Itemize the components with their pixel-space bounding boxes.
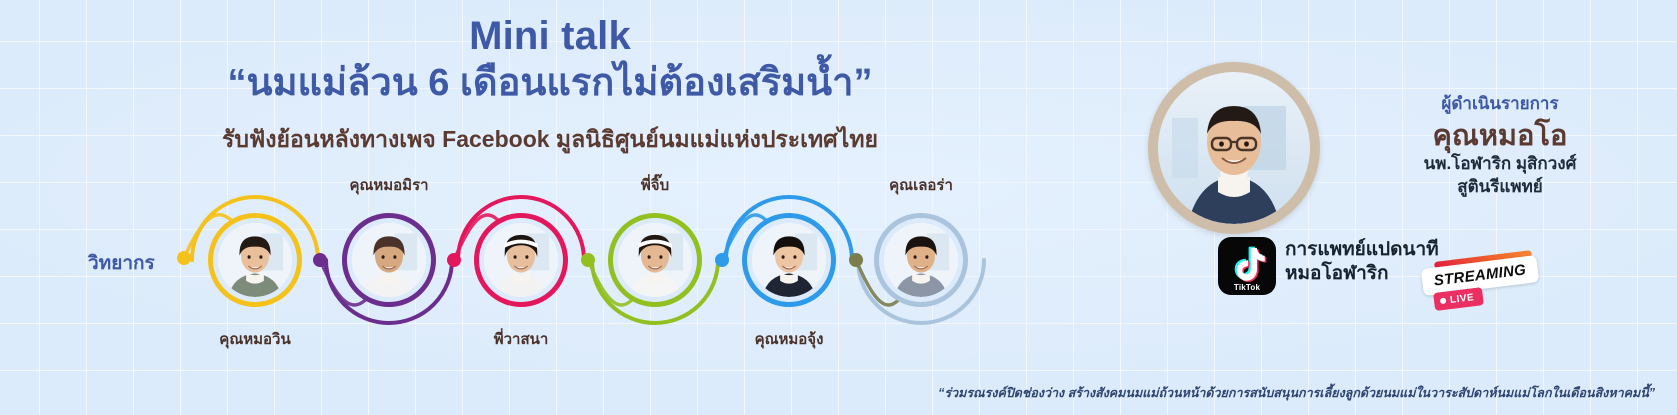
channel-name-line-1: การแพทย์แปดนาที — [1285, 238, 1439, 262]
host-avatar — [1148, 62, 1320, 234]
speaker-avatar[interactable] — [608, 213, 702, 307]
speaker-photo — [218, 223, 292, 297]
speaker-name: คุณหมอวิน — [219, 327, 290, 351]
page-title: Mini talk — [0, 14, 1100, 59]
speaker-photo — [618, 223, 692, 297]
speaker-avatar[interactable] — [208, 213, 302, 307]
speaker-avatar[interactable] — [874, 213, 968, 307]
host-credential-line-2: สูตินรีแพทย์ — [1330, 175, 1670, 198]
live-label: LIVE — [1449, 292, 1474, 306]
talk-topic: “นมแม่ล้วน 6 เดือนแรกไม่ต้องเสริมน้ำ” — [0, 61, 1100, 107]
speaker-photo — [752, 223, 826, 297]
tiktok-icon[interactable]: TikTok — [1218, 237, 1276, 295]
speaker-photo — [484, 223, 558, 297]
streaming-badge: STREAMING LIVE — [1418, 248, 1538, 310]
speaker-photo — [352, 223, 426, 297]
streaming-label: STREAMING — [1433, 261, 1527, 289]
host-panel: ผู้ดำเนินรายการ คุณหมอโอ นพ.โอฬาริก มุสิ… — [1130, 52, 1670, 352]
speaker-avatar[interactable] — [342, 213, 436, 307]
headline-block: Mini talk “นมแม่ล้วน 6 เดือนแรกไม่ต้องเส… — [0, 14, 1100, 158]
speaker-avatar[interactable] — [474, 213, 568, 307]
host-avatar-image — [1158, 72, 1310, 224]
speaker-name: พี่วาสนา — [494, 327, 549, 351]
tiktok-wordmark: TikTok — [1218, 283, 1276, 292]
speaker-name: พี่จิ๊บ — [641, 173, 669, 197]
host-credential-line-1: นพ.โอฬาริก มุสิกวงศ์ — [1330, 152, 1670, 175]
live-dot-icon — [1440, 298, 1447, 305]
campaign-quote: “ร่วมรณรงค์ปิดช่องว่าง สร้างสังคมนมแม่ถ้… — [938, 383, 1655, 403]
channel-name: การแพทย์แปดนาที หมอโอฬาริก — [1285, 238, 1439, 287]
speaker-name: คุณหมอจุ้ง — [755, 327, 824, 351]
speakers-section: วิทยากร คุณหมอวิน — [0, 170, 1060, 355]
webinar-banner: Mini talk “นมแม่ล้วน 6 เดือนแรกไม่ต้องเส… — [0, 0, 1677, 415]
speaker-name: คุณเลอร่า — [889, 173, 953, 197]
host-credentials: นพ.โอฬาริก มุสิกวงศ์ สูตินรีแพทย์ — [1330, 152, 1670, 199]
talk-subtitle: รับฟังย้อนหลังทางเพจ Facebook มูลนิธิศูน… — [0, 122, 1100, 158]
speaker-avatar[interactable] — [742, 213, 836, 307]
speaker-photo — [884, 223, 958, 297]
speaker-name: คุณหมอมิรา — [349, 173, 428, 197]
channel-name-line-2: หมอโอฬาริก — [1285, 262, 1439, 286]
